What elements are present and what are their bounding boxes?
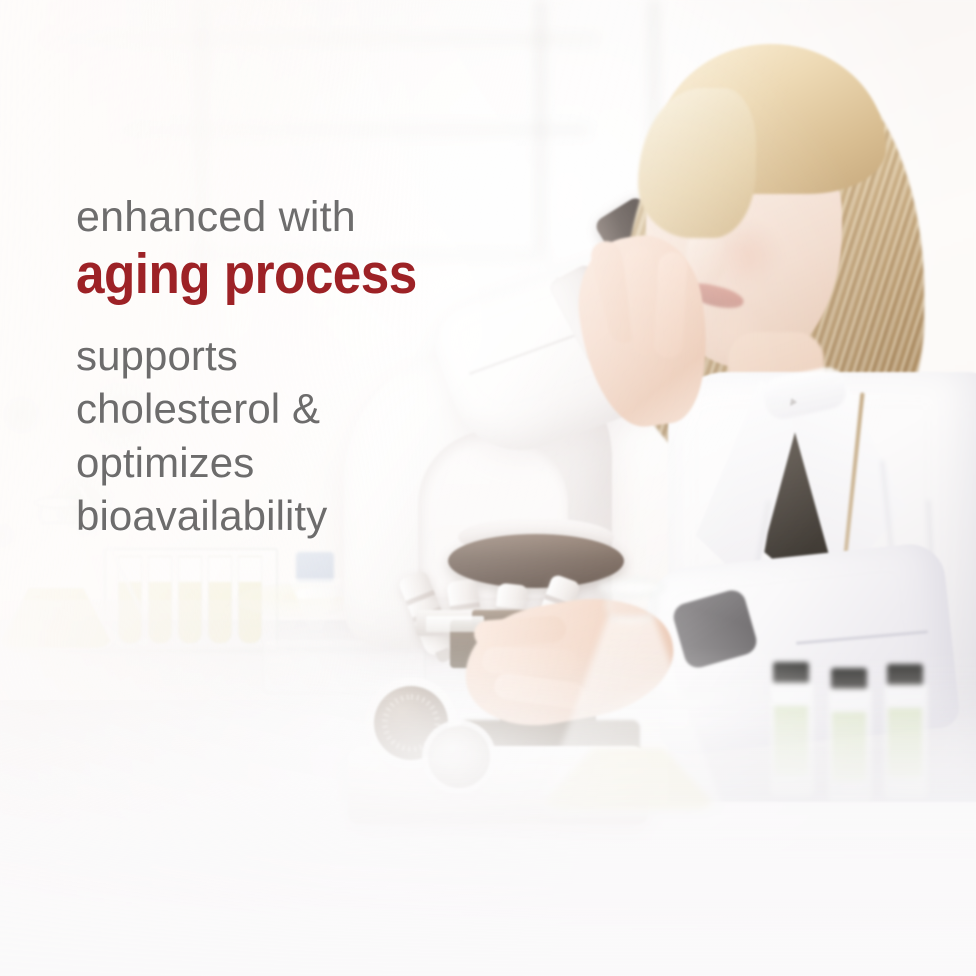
bench-reflection — [0, 600, 976, 976]
benefit-line-4: bioavailability — [76, 489, 496, 542]
marketing-copy: enhanced with aging process supports cho… — [76, 196, 496, 542]
hair-fringe — [638, 88, 756, 238]
promotional-banner: enhanced with aging process supports cho… — [0, 0, 976, 976]
benefit-line-3: optimizes — [76, 436, 496, 489]
benefit-line-1: supports — [76, 329, 496, 382]
benefit-list: supports cholesterol & optimizes bioavai… — [76, 329, 496, 542]
headline-text: aging process — [76, 246, 454, 303]
benefit-line-2: cholesterol & — [76, 382, 496, 435]
eyebrow-text: enhanced with — [76, 196, 496, 240]
